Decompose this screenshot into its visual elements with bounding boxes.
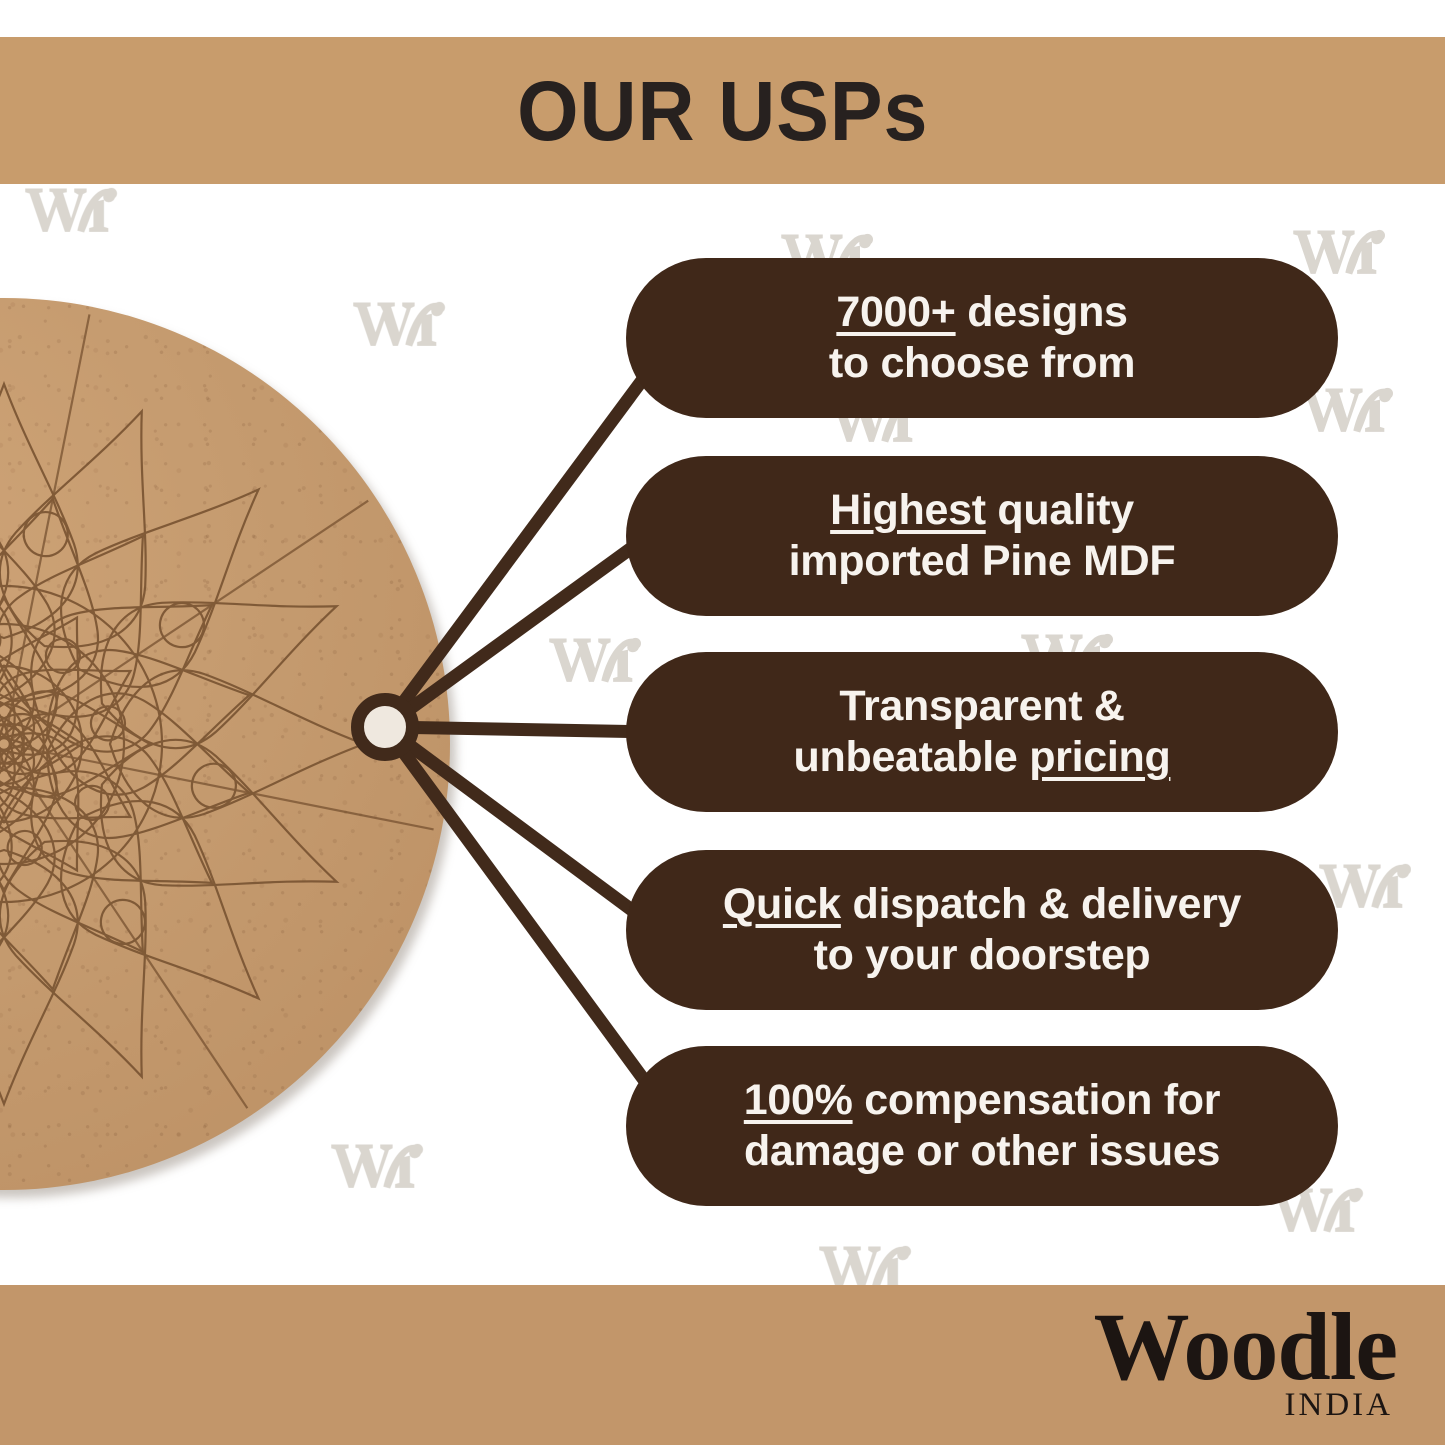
usp-line-2: unbeatable pricing	[794, 732, 1171, 783]
usp-line-2: to your doorstep	[814, 930, 1151, 981]
usp-line-2: damage or other issues	[744, 1126, 1220, 1177]
usp-rest: designs	[956, 288, 1128, 336]
infographic-canvas: 7000+ designs to choose from Highest qua…	[0, 0, 1445, 1445]
usp-rest: Transparent &	[839, 682, 1124, 730]
hub-node	[351, 693, 419, 761]
usp-pill-dispatch[interactable]: Quick dispatch & delivery to your doorst…	[626, 850, 1338, 1010]
usp-rest: quality	[986, 486, 1134, 534]
usp-rest: dispatch & delivery	[841, 880, 1241, 928]
usp-line-1: 100% compensation for	[744, 1075, 1220, 1126]
usp-highlight: 100%	[744, 1076, 853, 1124]
usp-pill-designs[interactable]: 7000+ designs to choose from	[626, 258, 1338, 418]
usp-rest-2: to your doorstep	[814, 931, 1151, 979]
usp-rest-2: to choose from	[829, 339, 1135, 387]
usp-line-1: Transparent &	[839, 681, 1124, 732]
page-title: OUR USPs	[517, 69, 928, 153]
usp-pill-compensation[interactable]: 100% compensation for damage or other is…	[626, 1046, 1338, 1206]
usp-rest: compensation for	[853, 1076, 1221, 1124]
usp-highlight: Highest	[830, 486, 986, 534]
header-banner: OUR USPs	[0, 37, 1445, 184]
usp-rest-2: imported Pine MDF	[789, 537, 1176, 585]
usp-rest-2: damage or other issues	[744, 1127, 1220, 1175]
brand-logo[interactable]: Woodle INDIA	[1094, 1299, 1397, 1422]
usp-line-1: 7000+ designs	[836, 287, 1127, 338]
usp-highlight: 7000+	[836, 288, 955, 336]
usp-line-2: to choose from	[829, 338, 1135, 389]
footer-banner: Woodle INDIA	[0, 1285, 1445, 1445]
usp-rest-2: unbeatable	[794, 733, 1030, 781]
usp-line-1: Quick dispatch & delivery	[723, 879, 1241, 930]
usp-pill-quality[interactable]: Highest quality imported Pine MDF	[626, 456, 1338, 616]
usp-highlight: pricing	[1029, 733, 1170, 781]
usp-line-1: Highest quality	[830, 485, 1134, 536]
usp-highlight: Quick	[723, 880, 841, 928]
usp-pill-pricing[interactable]: Transparent & unbeatable pricing	[626, 652, 1338, 812]
brand-logo-word: Woodle	[1094, 1299, 1397, 1395]
usp-line-2: imported Pine MDF	[789, 536, 1176, 587]
